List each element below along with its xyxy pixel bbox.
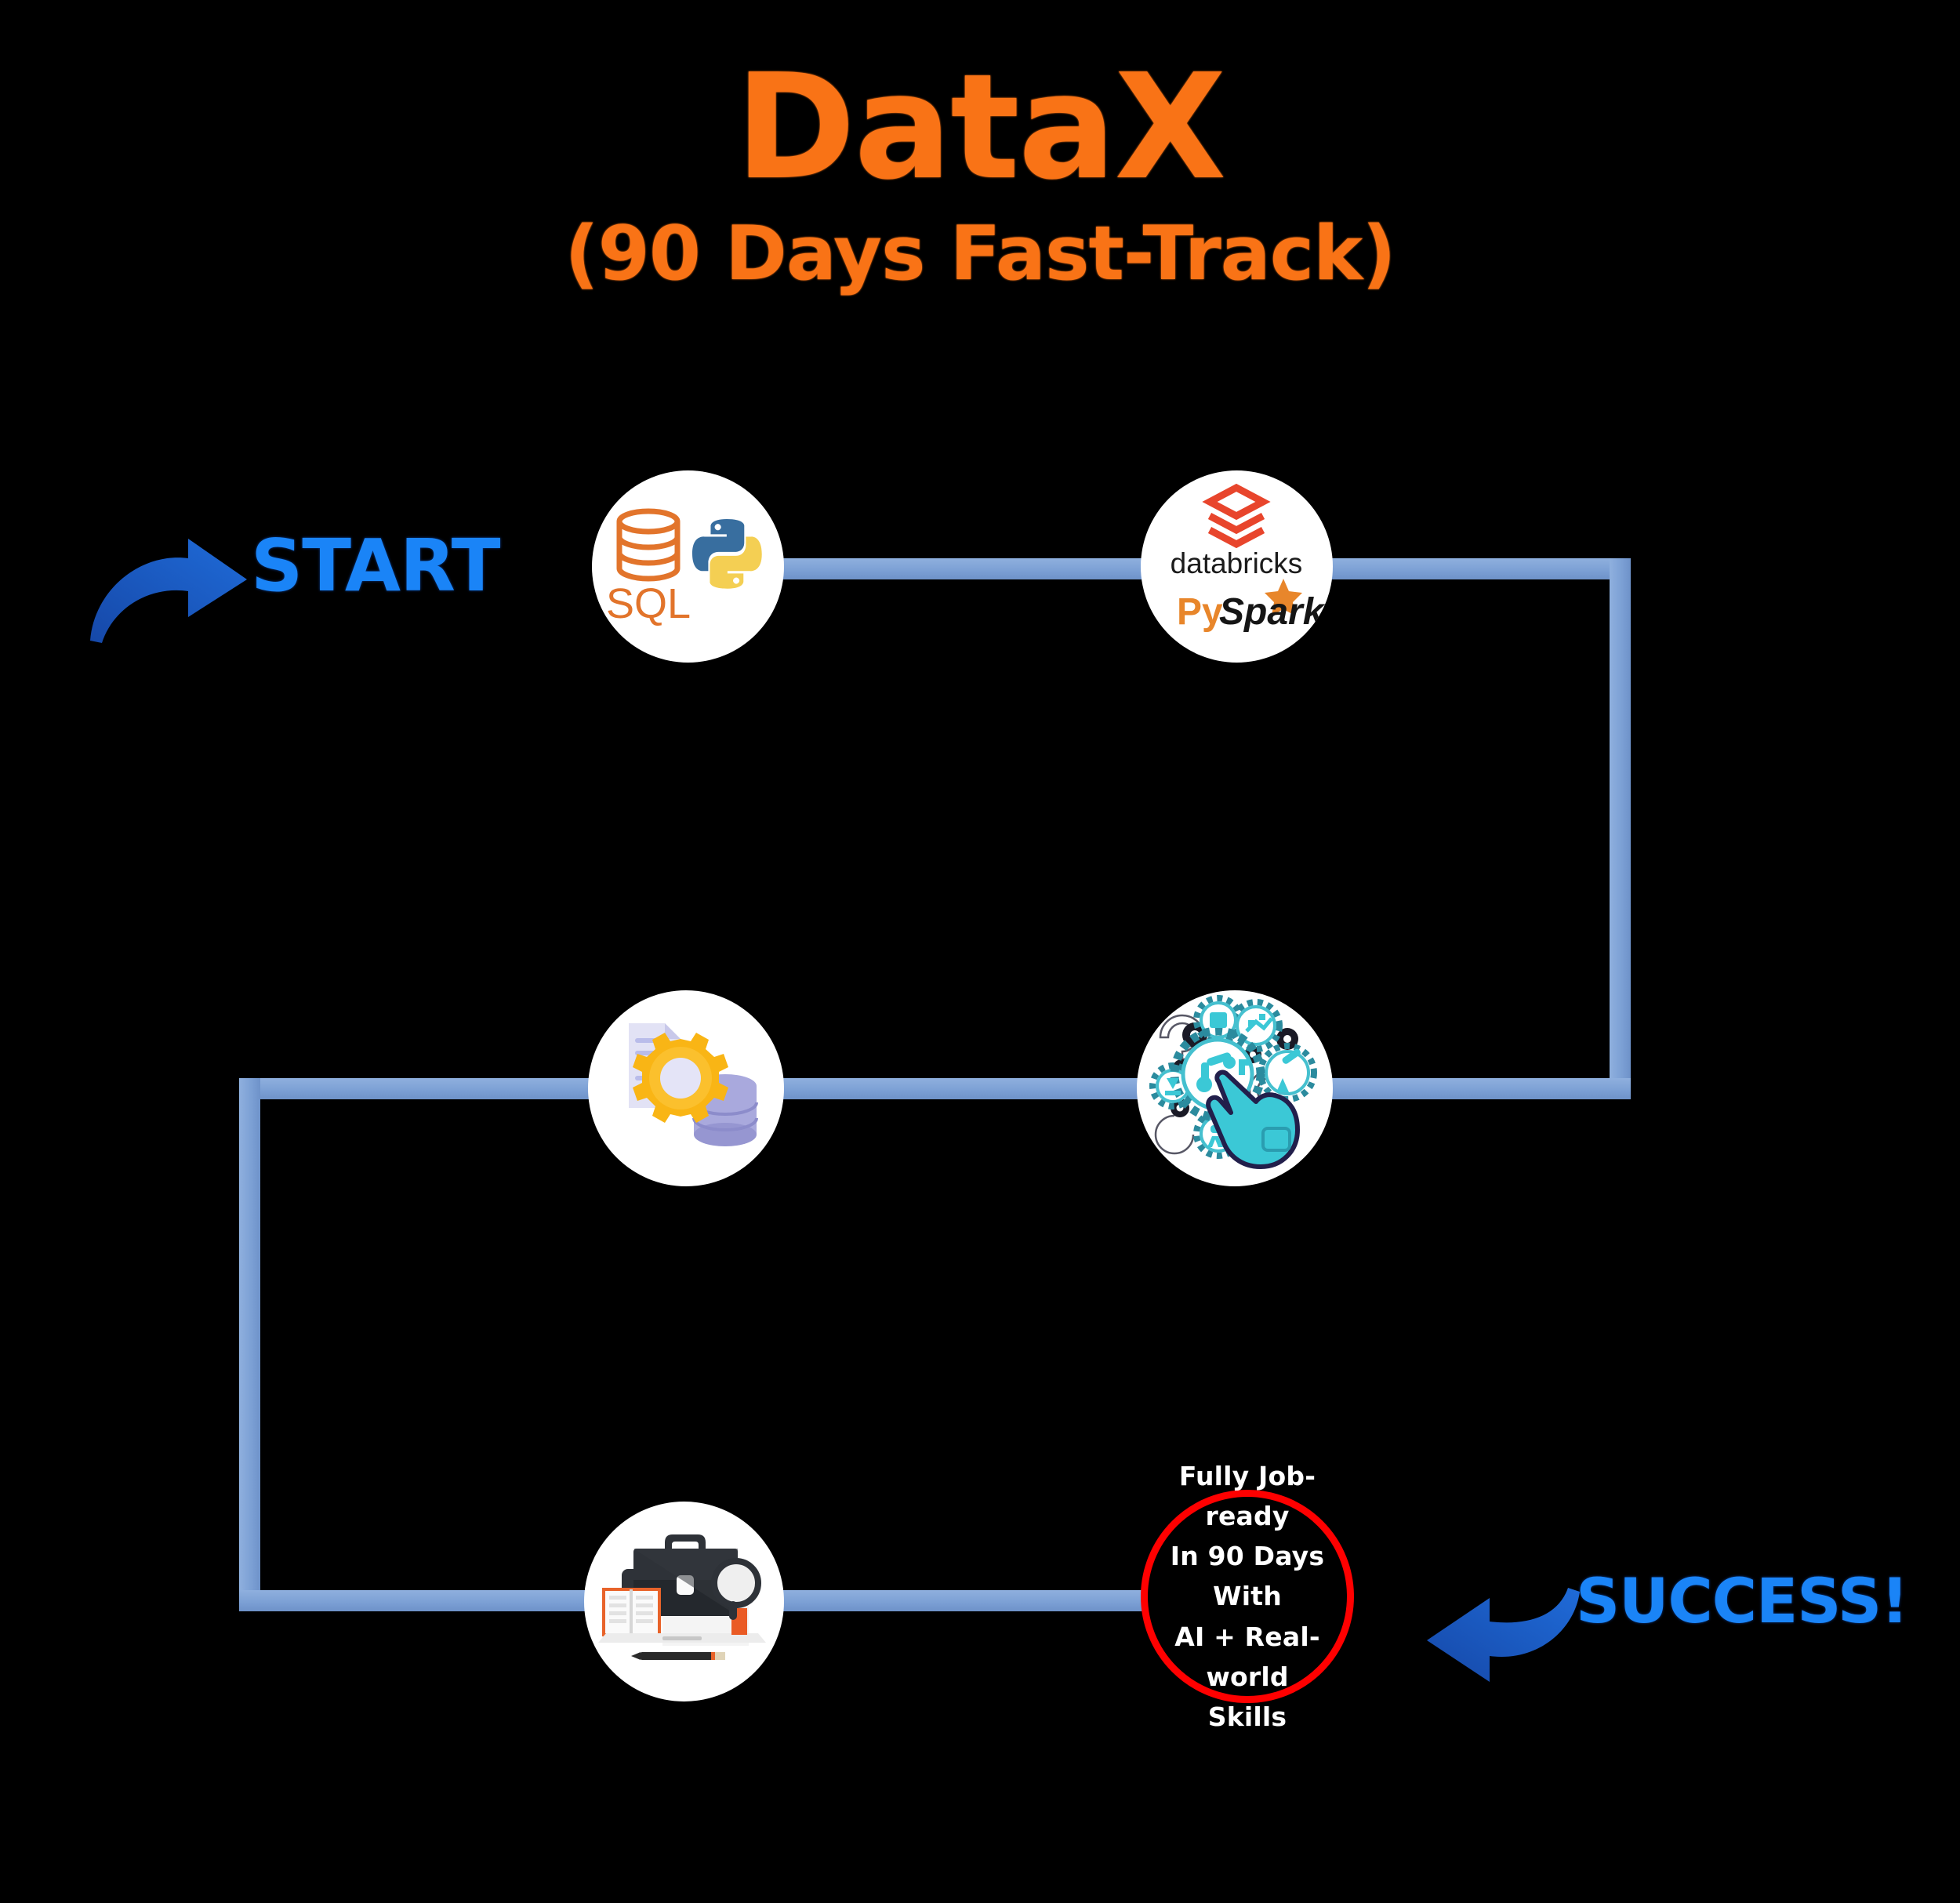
- node-data-processing[interactable]: [588, 990, 784, 1186]
- pencil-icon: [631, 1652, 725, 1660]
- connector-node5-goal: [753, 1590, 1168, 1611]
- success-label: SUCCESS!: [1576, 1567, 1908, 1637]
- connector-node3-left: [239, 1078, 631, 1099]
- node-ai-automation[interactable]: [1137, 990, 1333, 1186]
- goal-text: Fully Job-ready In 90 Days With AI + Rea…: [1148, 1456, 1347, 1737]
- goal-line-4: Skills: [1165, 1697, 1330, 1737]
- page-title-block: DataX (90 Days Fast-Track): [0, 55, 1960, 292]
- goal-line-1: Fully Job-ready: [1165, 1456, 1330, 1536]
- connector-left-vertical: [239, 1078, 260, 1611]
- svg-text:SQL: SQL: [606, 580, 691, 627]
- page-title: DataX: [0, 55, 1960, 200]
- node-goal[interactable]: Fully Job-ready In 90 Days With AI + Rea…: [1141, 1490, 1354, 1703]
- databricks-pyspark-icon: databricks Py Spark: [1141, 470, 1333, 663]
- connector-node2-right: [1301, 558, 1631, 579]
- connector-node1-node2: [753, 558, 1192, 579]
- success-arrow-icon: [1411, 1584, 1584, 1694]
- pyspark-spark-text: Spark: [1219, 591, 1326, 633]
- node-databricks-pyspark[interactable]: databricks Py Spark: [1141, 470, 1333, 663]
- ai-automation-gears-hand-icon: [1137, 990, 1333, 1186]
- briefcase-laptop-book-magnifier-icon: [584, 1502, 784, 1701]
- roadmap-canvas: DataX (90 Days Fast-Track) START: [0, 0, 1960, 1903]
- node-sql-python[interactable]: SQL: [592, 470, 784, 663]
- connector-left-node5: [239, 1590, 639, 1611]
- sql-python-icon: SQL: [592, 470, 784, 663]
- goal-line-3: AI + Real-world: [1165, 1617, 1330, 1697]
- page-subtitle: (90 Days Fast-Track): [0, 217, 1960, 292]
- pyspark-py-text: Py: [1177, 591, 1223, 633]
- connector-right-vertical: [1610, 558, 1631, 1099]
- connector-right-node4: [1325, 1078, 1631, 1099]
- start-arrow-icon: [86, 535, 259, 645]
- document-gear-database-icon: [588, 990, 784, 1186]
- node-job-portfolio[interactable]: [584, 1502, 784, 1701]
- start-label: START: [251, 524, 500, 608]
- goal-line-2: In 90 Days With: [1165, 1536, 1330, 1616]
- connector-node3-node4: [753, 1078, 1192, 1099]
- databricks-wordmark: databricks: [1171, 547, 1303, 579]
